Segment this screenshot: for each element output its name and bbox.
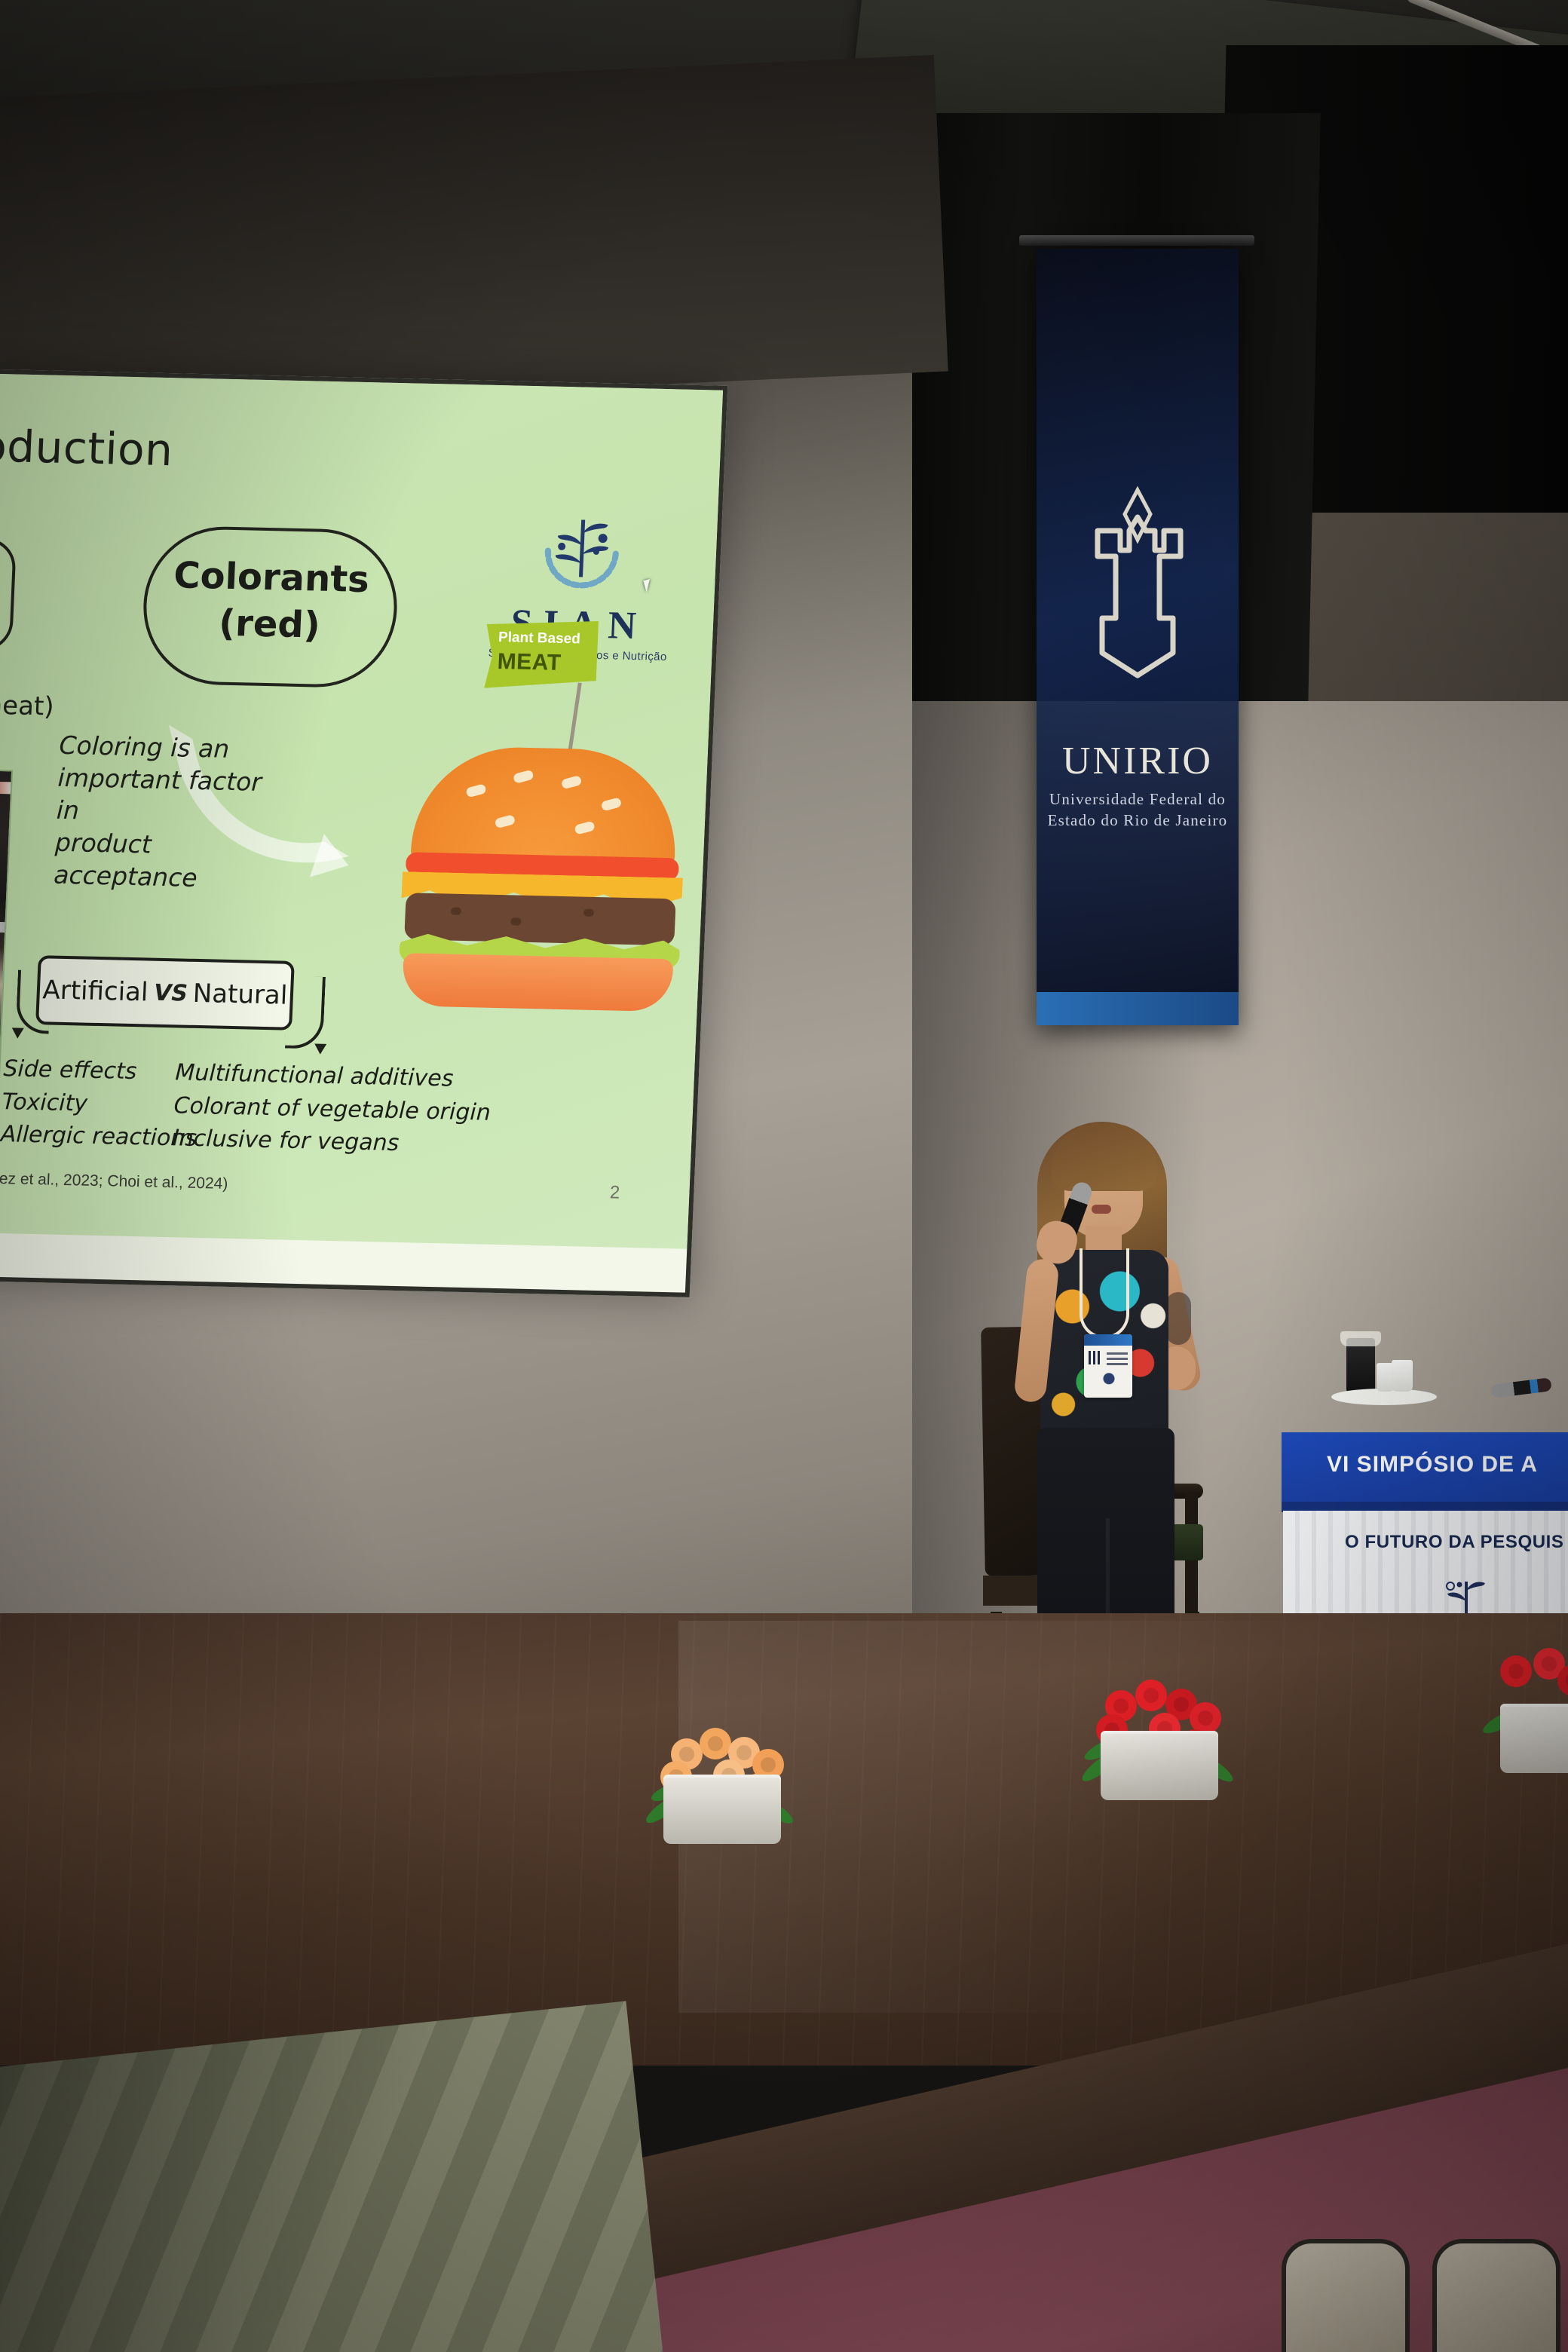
- banner-rod: [1019, 235, 1254, 246]
- audience-chairs: [1251, 2201, 1568, 2352]
- supermarket-shelf-photo: [0, 768, 13, 1237]
- flag-line2: MEAT: [497, 649, 562, 676]
- colorants-bubble-line2: (red): [145, 600, 394, 648]
- presenter-badge: [1084, 1334, 1132, 1398]
- audience-chair: [1432, 2239, 1560, 2352]
- list-item: Side effects: [3, 1052, 201, 1089]
- unirio-subtitle-line1: Universidade Federal do: [1037, 789, 1239, 810]
- slide-frame: troduction based meat) 38%): [0, 369, 727, 1297]
- unirio-banner-footer: [1037, 992, 1239, 1025]
- artificial-label: Artificial: [42, 975, 149, 1007]
- table-banner-title: VI SIMPÓSIO DE A: [1327, 1452, 1568, 1478]
- burger-patty: [404, 893, 676, 945]
- qr-code-icon: [1089, 1351, 1102, 1364]
- slide-page-number: 2: [609, 1182, 620, 1203]
- flag-line1: Plant Based: [498, 629, 581, 648]
- slide-left-pill-shape: [0, 535, 17, 651]
- unirio-crest-icon: [1081, 475, 1194, 720]
- coloring-note-line2: important factor in: [56, 762, 285, 832]
- mouse-cursor-icon: [643, 577, 660, 592]
- artificial-effects-list: Side effects Toxicity Allergic reactions: [0, 1052, 201, 1155]
- artificial-vs-natural-box: Artificial VS Natural: [35, 955, 295, 1031]
- coloring-note-line1: Coloring is an: [59, 730, 286, 767]
- table-banner-subtitle: O FUTURO DA PESQUIS: [1345, 1532, 1568, 1553]
- floor-reflection: [678, 1621, 1568, 2013]
- plant-based-meat-flag: Plant Based MEAT: [484, 619, 599, 691]
- vs-label: VS: [151, 979, 190, 1006]
- list-item: Allergic reactions: [0, 1118, 198, 1155]
- coloring-note-line3: product acceptance: [53, 826, 282, 896]
- burger-top-bun: [411, 746, 679, 865]
- cup: [1392, 1360, 1413, 1392]
- unirio-subtitle-line2: Estado do Rio de Janeiro: [1037, 810, 1239, 831]
- colorants-bubble-line1: Colorants: [147, 553, 396, 601]
- slide-left-fragment-line1: based meat): [0, 687, 142, 727]
- coloring-note: Coloring is an important factor in produ…: [53, 730, 286, 896]
- list-item: Toxicity: [2, 1086, 199, 1122]
- unirio-subtitle: Universidade Federal do Estado do Rio de…: [1037, 789, 1239, 831]
- presenter-mouth: [1092, 1205, 1111, 1214]
- sian-plant-icon: [523, 507, 640, 599]
- slide-citation: Fernández-López et al., 2023; Choi et al…: [0, 1168, 228, 1193]
- burger-illustration: [405, 746, 679, 1000]
- presenter-arm-tattoo: [1165, 1292, 1191, 1345]
- audience-chair: [1282, 2239, 1410, 2352]
- projected-slide: troduction based meat) 38%): [0, 369, 727, 1297]
- unirio-wordmark: UNIRIO: [1037, 739, 1239, 783]
- colorants-bubble: Colorants (red): [140, 525, 400, 688]
- unirio-banner: UNIRIO Universidade Federal do Estado do…: [1037, 249, 1239, 1025]
- pitcher-beaded-cover: [1340, 1331, 1381, 1346]
- projection-wall-upper-shadow: [0, 55, 948, 415]
- presenter-lanyard: [1080, 1248, 1129, 1339]
- slide-title: troduction: [0, 419, 174, 476]
- slide-content: troduction based meat) 38%): [0, 373, 723, 1248]
- auditorium-scene: troduction based meat) 38%): [0, 0, 1568, 2352]
- natural-effects-list: Multifunctional additives Colorant of ve…: [172, 1056, 493, 1162]
- burger-bottom-bun: [401, 953, 673, 1012]
- natural-label: Natural: [192, 978, 288, 1011]
